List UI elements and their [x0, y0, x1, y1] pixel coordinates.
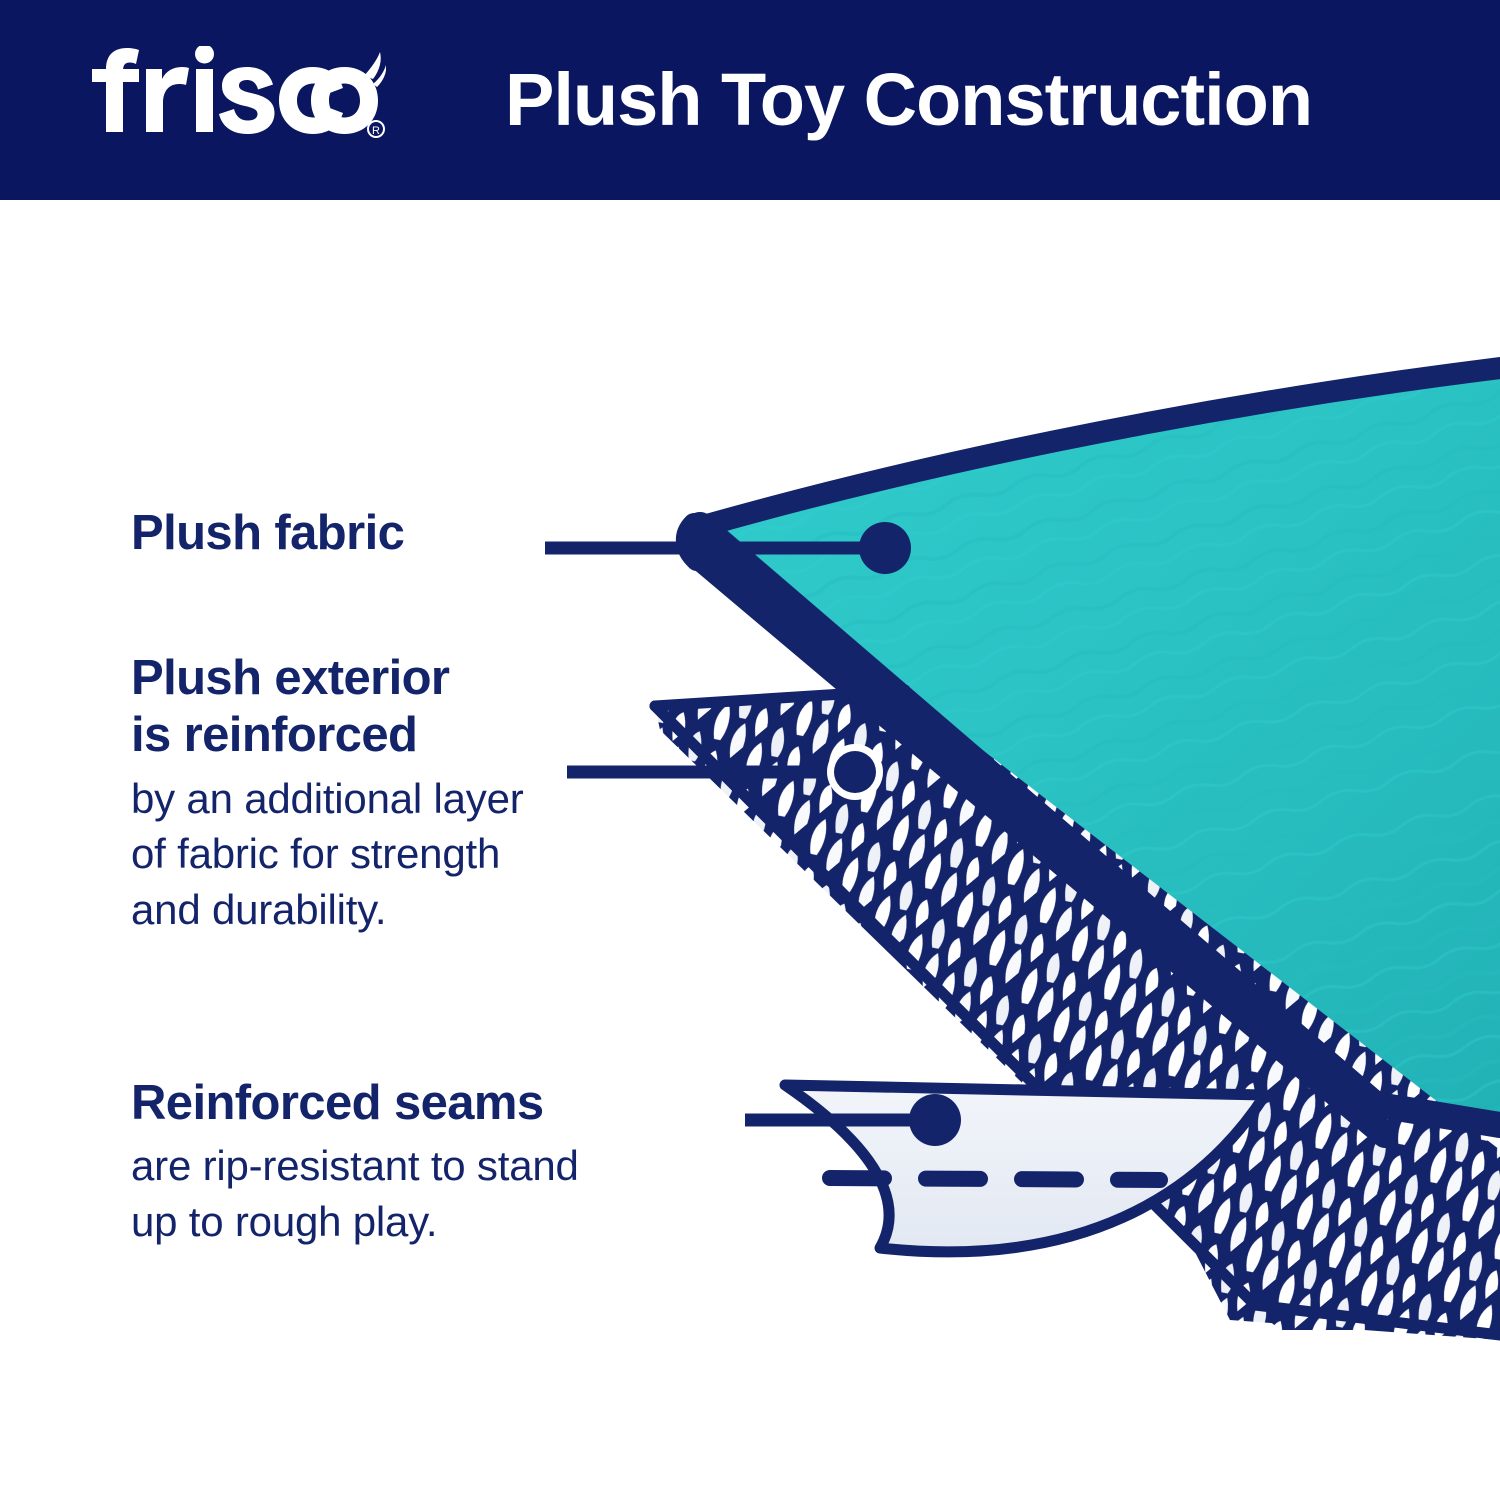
callout-reinforced-seams-heading: Reinforced seams — [131, 1075, 791, 1132]
callout-plush-fabric-heading: Plush fabric — [131, 505, 561, 562]
seam-flap — [785, 1085, 1265, 1252]
callout-plush-exterior-heading: Plush exterior is reinforced — [131, 650, 731, 765]
mesh-reinforcement-layer — [600, 650, 1500, 1390]
leader-dot-reinforced-seams — [909, 1094, 961, 1146]
stitch-dashes — [830, 1178, 1160, 1180]
plush-panel-border — [687, 368, 1500, 1135]
callout-reinforced-seams-body: are rip-resistant to stand up to rough p… — [131, 1138, 791, 1249]
callout-plush-exterior-body: by an additional layer of fabric for str… — [131, 771, 731, 937]
callout-plush-fabric: Plush fabric — [131, 505, 561, 562]
leader-dot-plush-fabric — [859, 522, 911, 574]
registered-trademark-icon: R — [368, 121, 384, 137]
page-title: Plush Toy Construction — [505, 50, 1385, 150]
callout-plush-exterior: Plush exterior is reinforced by an addit… — [131, 650, 731, 937]
plush-fabric-panel — [700, 368, 1500, 1120]
infographic-page: R Plush Toy Construction — [0, 0, 1500, 1500]
leader-line-plush-fabric — [545, 522, 911, 574]
frisco-wordmark-icon: R — [86, 46, 386, 146]
svg-text:R: R — [372, 125, 380, 137]
header-band: R Plush Toy Construction — [0, 0, 1500, 200]
callout-reinforced-seams: Reinforced seams are rip-resistant to st… — [131, 1075, 791, 1249]
leader-dot-plush-exterior — [834, 751, 876, 793]
frisco-logo: R — [86, 46, 386, 146]
